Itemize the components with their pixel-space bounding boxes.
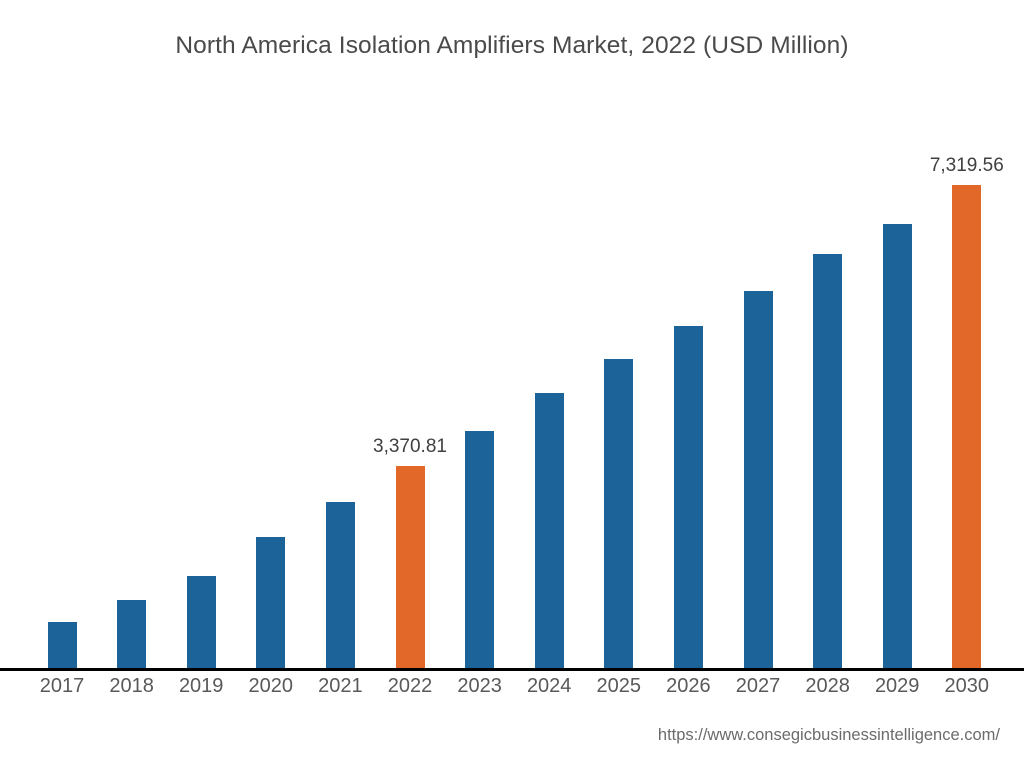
x-tick-2026: 2026 <box>666 675 711 698</box>
bar-rect-2026 <box>674 326 703 669</box>
bar-2024[interactable] <box>535 393 564 669</box>
x-tick-2020: 2020 <box>249 675 294 698</box>
bar-rect-2020 <box>256 537 285 669</box>
bar-rect-2022 <box>396 466 425 669</box>
bar-2020[interactable] <box>256 537 285 669</box>
x-tick-2023: 2023 <box>457 675 502 698</box>
x-tick-2022: 2022 <box>388 675 433 698</box>
source-url: https://www.consegicbusinessintelligence… <box>658 726 1000 745</box>
bar-rect-2025 <box>604 359 633 669</box>
bar-rect-2019 <box>187 576 216 669</box>
bar-2030[interactable]: 7,319.56 <box>952 185 981 669</box>
x-tick-2030: 2030 <box>945 675 990 698</box>
bar-2027[interactable] <box>744 291 773 669</box>
bar-2019[interactable] <box>187 576 216 669</box>
x-axis-tick-labels: 2017201820192020202120222023202420252026… <box>0 675 1024 709</box>
bar-rect-2024 <box>535 393 564 669</box>
bar-2023[interactable] <box>465 431 494 669</box>
bar-2025[interactable] <box>604 359 633 669</box>
bar-rect-2027 <box>744 291 773 669</box>
bar-2017[interactable] <box>48 622 77 669</box>
bar-2018[interactable] <box>117 600 146 669</box>
bar-2029[interactable] <box>883 224 912 669</box>
plot-area: 3,370.817,319.56 <box>0 0 1024 669</box>
bar-rect-2018 <box>117 600 146 669</box>
bar-2028[interactable] <box>813 254 842 669</box>
bar-rect-2017 <box>48 622 77 669</box>
bar-rect-2023 <box>465 431 494 669</box>
bar-value-label-2030: 7,319.56 <box>930 155 1004 177</box>
bar-value-label-2022: 3,370.81 <box>373 436 447 458</box>
x-tick-2025: 2025 <box>597 675 642 698</box>
bar-2021[interactable] <box>326 502 355 669</box>
x-tick-2018: 2018 <box>109 675 154 698</box>
x-tick-2028: 2028 <box>805 675 850 698</box>
bar-rect-2029 <box>883 224 912 669</box>
x-axis-line <box>0 668 1024 671</box>
x-tick-2019: 2019 <box>179 675 224 698</box>
chart-figure: North America Isolation Amplifiers Marke… <box>0 0 1024 768</box>
x-tick-2017: 2017 <box>40 675 85 698</box>
x-tick-2021: 2021 <box>318 675 363 698</box>
bar-rect-2021 <box>326 502 355 669</box>
bar-2026[interactable] <box>674 326 703 669</box>
x-tick-2027: 2027 <box>736 675 781 698</box>
x-tick-2029: 2029 <box>875 675 920 698</box>
bar-2022[interactable]: 3,370.81 <box>396 466 425 669</box>
bar-rect-2030 <box>952 185 981 669</box>
x-tick-2024: 2024 <box>527 675 572 698</box>
bar-rect-2028 <box>813 254 842 669</box>
